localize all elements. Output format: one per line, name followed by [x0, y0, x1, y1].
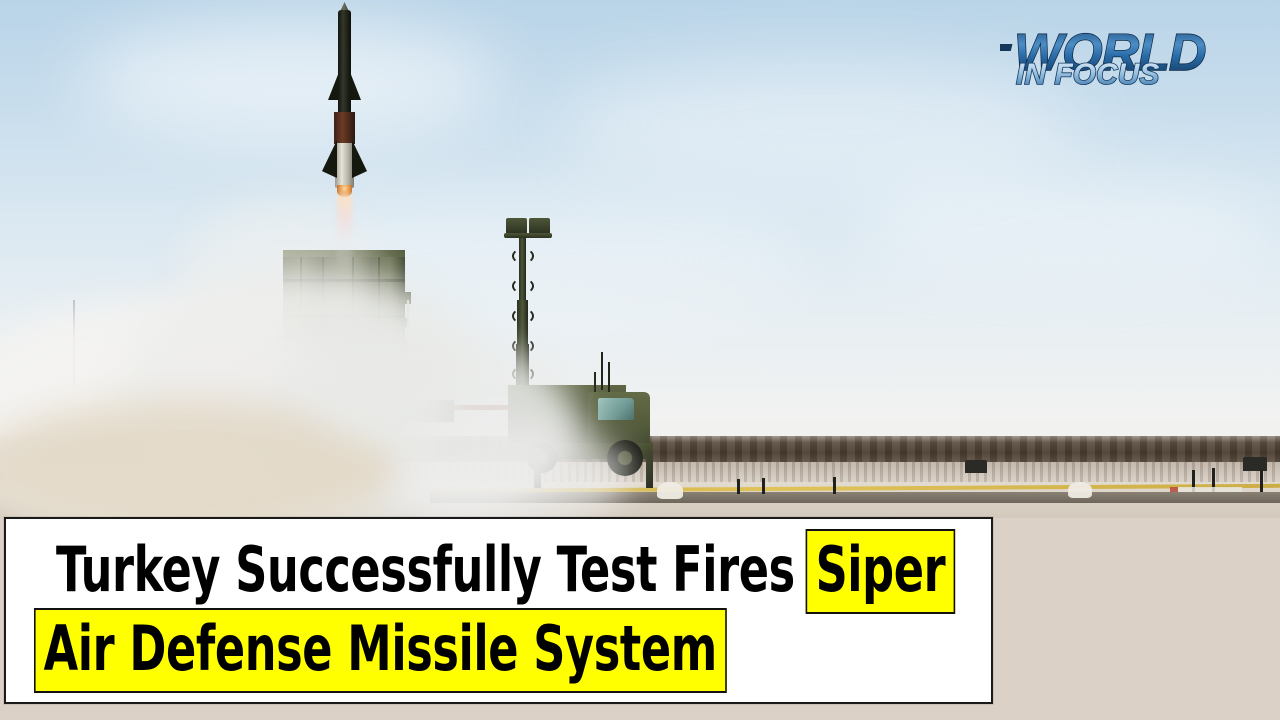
missile-booster	[335, 143, 354, 188]
sky-haze	[860, 170, 1280, 280]
headline-highlight-system: Air Defense Missile System	[34, 608, 726, 693]
truck-antenna	[601, 352, 603, 390]
missile-midfin	[350, 72, 361, 100]
ground-equipment-case	[965, 460, 987, 473]
ground-marker-post	[833, 477, 836, 494]
headline-line-1: Turkey Successfully Test FiresSiper	[56, 537, 955, 603]
truck-stabilizer-jack	[646, 450, 653, 488]
mast-cable-coil	[512, 248, 534, 264]
target-board	[1170, 487, 1242, 492]
mast-crossbar	[504, 233, 552, 238]
logo-dash	[1000, 44, 1013, 51]
channel-logo: WORLD IN FOCUS	[1000, 22, 1250, 102]
ground-marker-post	[737, 479, 740, 494]
headline-plain-text: Turkey Successfully Test Fires	[56, 533, 795, 606]
missile-tailfin	[352, 140, 367, 178]
missile-interstage	[334, 112, 355, 144]
ground-marker-post	[762, 478, 765, 494]
truck-antenna	[608, 362, 610, 392]
mast-sensor-pod	[529, 218, 550, 234]
missile-midfin	[328, 72, 339, 100]
launch-smoke	[300, 280, 470, 440]
truck-antenna	[594, 372, 596, 392]
missile-tailfin	[322, 140, 337, 178]
sandbag	[1068, 482, 1092, 498]
truck-windshield	[598, 398, 634, 420]
headline-panel: Turkey Successfully Test FiresSiper Air …	[4, 517, 993, 704]
sky-haze	[80, 20, 500, 140]
ground-marker-post	[1260, 470, 1263, 492]
sandbag	[657, 482, 683, 499]
headline-line-2: Air Defense Missile System	[34, 616, 726, 682]
video-thumbnail: WORLD IN FOCUS Turkey Successfully Test …	[0, 0, 1280, 720]
ground-equipment-case	[1243, 457, 1267, 471]
mast-cable-coil	[512, 308, 534, 324]
news-photo: WORLD IN FOCUS	[0, 0, 1280, 518]
logo-infocus-text: IN FOCUS	[1016, 58, 1159, 91]
mast-sensor-pod	[506, 218, 527, 234]
headline-highlight-siper: Siper	[806, 529, 955, 614]
mast-cable-coil	[512, 278, 534, 294]
